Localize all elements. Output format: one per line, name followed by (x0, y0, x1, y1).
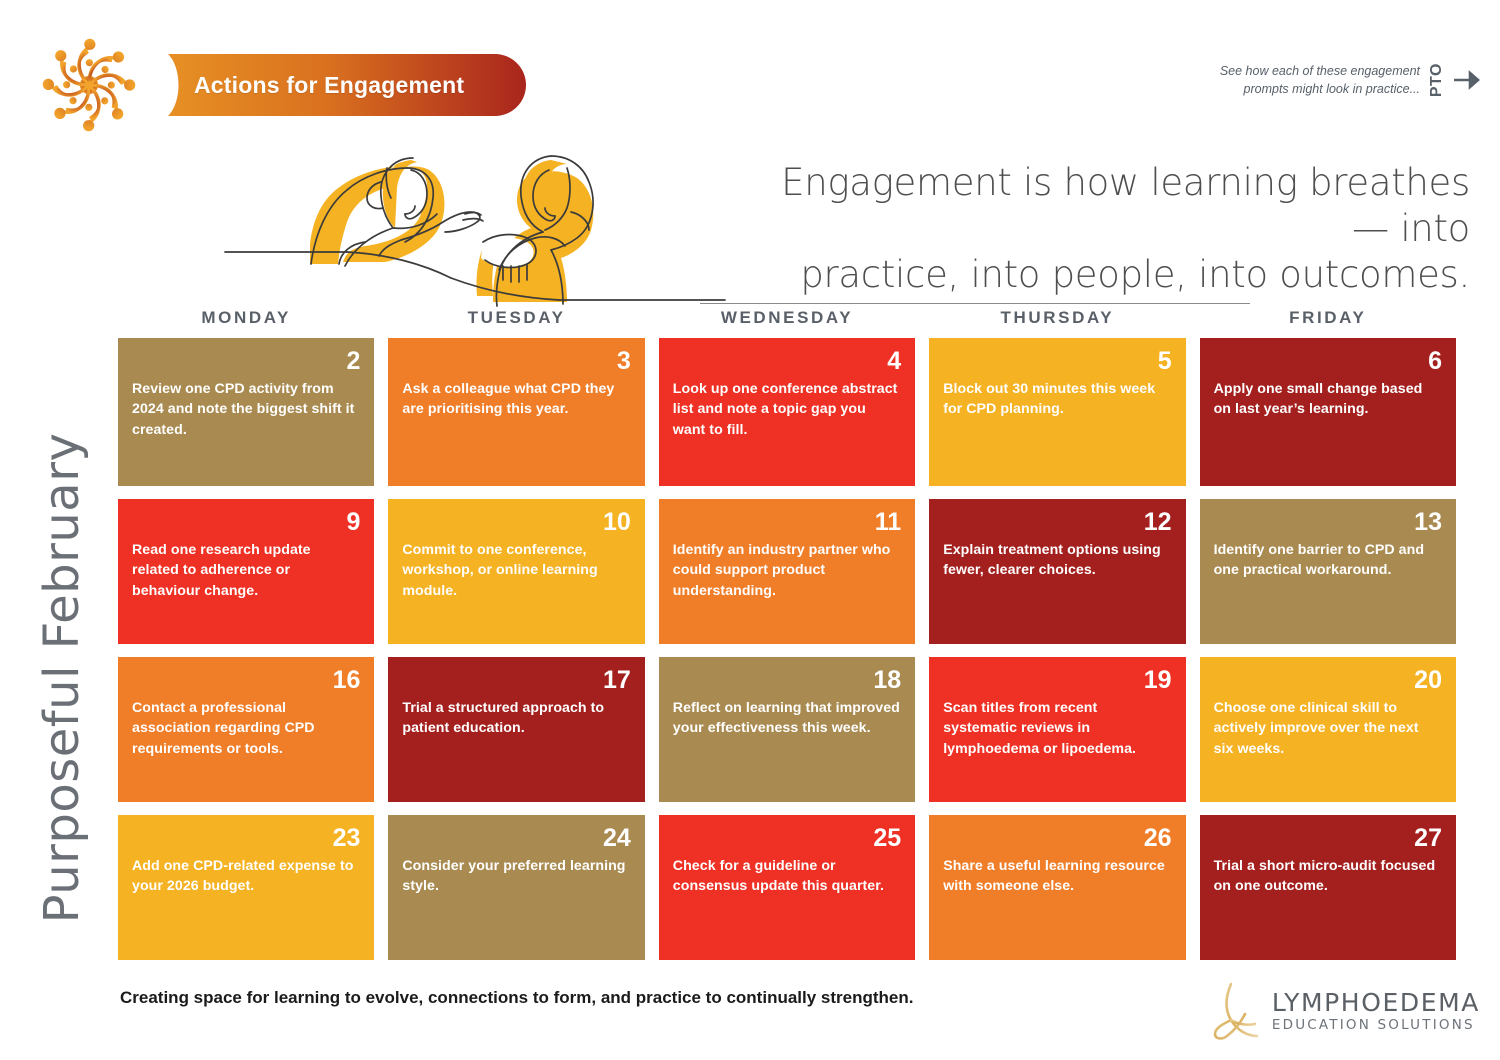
day-number: 19 (943, 667, 1171, 693)
day-header-tuesday: TUESDAY (388, 308, 644, 338)
hero-quote: Engagement is how learning breathes — in… (740, 160, 1470, 298)
calendar-week-row: 23 Add one CPD-related expense to your 2… (118, 815, 1456, 960)
day-header-wednesday: WEDNESDAY (659, 308, 915, 338)
day-number: 23 (132, 825, 360, 851)
pto-callout: See how each of these engagement prompts… (1190, 62, 1480, 98)
calendar-day-cell[interactable]: 27 Trial a short micro-audit focused on … (1200, 815, 1456, 960)
day-number: 6 (1214, 348, 1442, 374)
day-prompt: Commit to one conference, workshop, or o… (402, 540, 630, 600)
arrow-right-icon (1454, 69, 1480, 91)
pto-label: PTO (1428, 63, 1446, 97)
calendar-day-cell[interactable]: 4 Look up one conference abstract list a… (659, 338, 915, 486)
calendar-day-cell[interactable]: 20 Choose one clinical skill to actively… (1200, 657, 1456, 802)
calendar-day-cell[interactable]: 5 Block out 30 minutes this week for CPD… (929, 338, 1185, 486)
day-number: 10 (402, 509, 630, 535)
illustration-baseline (700, 303, 1250, 304)
calendar-day-cell[interactable]: 12 Explain treatment options using fewer… (929, 499, 1185, 644)
day-number: 20 (1214, 667, 1442, 693)
banner-title: Actions for Engagement (168, 54, 526, 116)
day-number: 18 (673, 667, 901, 693)
footer-brand-subtitle: EDUCATION SOLUTIONS (1272, 1018, 1480, 1032)
calendar-day-headers: MONDAY TUESDAY WEDNESDAY THURSDAY FRIDAY (118, 308, 1456, 338)
calendar-day-cell[interactable]: 23 Add one CPD-related expense to your 2… (118, 815, 374, 960)
day-prompt: Share a useful learning resource with so… (943, 856, 1171, 896)
calendar-day-cell[interactable]: 11 Identify an industry partner who coul… (659, 499, 915, 644)
calendar-week-row: 2 Review one CPD activity from 2024 and … (118, 338, 1456, 486)
day-number: 17 (402, 667, 630, 693)
day-prompt: Review one CPD activity from 2024 and no… (132, 379, 360, 439)
calendar-day-cell[interactable]: 2 Review one CPD activity from 2024 and … (118, 338, 374, 486)
lymphoedema-mandala-logo-icon (28, 24, 150, 146)
day-prompt: Ask a colleague what CPD they are priori… (402, 379, 630, 419)
calendar-week-row: 16 Contact a professional association re… (118, 657, 1456, 802)
logo-badge (16, 22, 161, 147)
day-number: 26 (943, 825, 1171, 851)
day-prompt: Contact a professional association regar… (132, 698, 360, 758)
day-prompt: Reflect on learning that improved your e… (673, 698, 901, 738)
calendar-day-cell[interactable]: 19 Scan titles from recent systematic re… (929, 657, 1185, 802)
calendar-day-cell[interactable]: 16 Contact a professional association re… (118, 657, 374, 802)
day-number: 16 (132, 667, 360, 693)
day-number: 3 (402, 348, 630, 374)
calendar-week-row: 9 Read one research update related to ad… (118, 499, 1456, 644)
day-prompt: Identify one barrier to CPD and one prac… (1214, 540, 1442, 580)
hero-quote-line-1: Engagement is how learning breathes — in… (740, 160, 1470, 252)
footer-tagline: Creating space for learning to evolve, c… (120, 988, 913, 1008)
day-prompt: Apply one small change based on last yea… (1214, 379, 1442, 419)
day-prompt: Choose one clinical skill to actively im… (1214, 698, 1442, 758)
day-prompt: Check for a guideline or consensus updat… (673, 856, 901, 896)
day-prompt: Block out 30 minutes this week for CPD p… (943, 379, 1171, 419)
pto-note-text: See how each of these engagement prompts… (1190, 62, 1420, 98)
day-number: 4 (673, 348, 901, 374)
day-number: 5 (943, 348, 1171, 374)
hero-quote-line-2: practice, into people, into outcomes. (740, 252, 1470, 298)
footer-brand-text: LYMPHOEDEMA EDUCATION SOLUTIONS (1272, 990, 1480, 1031)
calendar-day-cell[interactable]: 6 Apply one small change based on last y… (1200, 338, 1456, 486)
calendar-day-cell[interactable]: 24 Consider your preferred learning styl… (388, 815, 644, 960)
day-number: 24 (402, 825, 630, 851)
day-prompt: Read one research update related to adhe… (132, 540, 360, 600)
calendar-day-cell[interactable]: 9 Read one research update related to ad… (118, 499, 374, 644)
day-prompt: Look up one conference abstract list and… (673, 379, 901, 439)
day-prompt: Trial a structured approach to patient e… (402, 698, 630, 738)
day-prompt: Explain treatment options using fewer, c… (943, 540, 1171, 580)
day-number: 12 (943, 509, 1171, 535)
day-header-monday: MONDAY (118, 308, 374, 338)
day-number: 27 (1214, 825, 1442, 851)
day-prompt: Trial a short micro-audit focused on one… (1214, 856, 1442, 896)
calendar-day-cell[interactable]: 3 Ask a colleague what CPD they are prio… (388, 338, 644, 486)
day-prompt: Identify an industry partner who could s… (673, 540, 901, 600)
two-people-line-art-icon (215, 118, 735, 313)
day-prompt: Consider your preferred learning style. (402, 856, 630, 896)
calendar-day-cell[interactable]: 13 Identify one barrier to CPD and one p… (1200, 499, 1456, 644)
conversation-illustration (215, 118, 735, 313)
day-prompt: Add one CPD-related expense to your 2026… (132, 856, 360, 896)
calendar-day-cell[interactable]: 10 Commit to one conference, workshop, o… (388, 499, 644, 644)
actions-for-engagement-banner: Actions for Engagement (168, 54, 526, 116)
ribbon-mark-icon (1209, 980, 1263, 1042)
day-number: 25 (673, 825, 901, 851)
day-prompt: Scan titles from recent systematic revie… (943, 698, 1171, 758)
calendar-day-cell[interactable]: 25 Check for a guideline or consensus up… (659, 815, 915, 960)
day-number: 2 (132, 348, 360, 374)
footer-brand-name: LYMPHOEDEMA (1272, 990, 1480, 1016)
month-title: Purposeful February (34, 358, 90, 998)
footer-brand-logo: LYMPHOEDEMA EDUCATION SOLUTIONS (1209, 980, 1480, 1042)
calendar-day-cell[interactable]: 17 Trial a structured approach to patien… (388, 657, 644, 802)
day-header-thursday: THURSDAY (929, 308, 1185, 338)
day-header-friday: FRIDAY (1200, 308, 1456, 338)
day-number: 9 (132, 509, 360, 535)
calendar-grid: MONDAY TUESDAY WEDNESDAY THURSDAY FRIDAY… (118, 308, 1456, 973)
calendar-day-cell[interactable]: 18 Reflect on learning that improved you… (659, 657, 915, 802)
day-number: 13 (1214, 509, 1442, 535)
calendar-day-cell[interactable]: 26 Share a useful learning resource with… (929, 815, 1185, 960)
day-number: 11 (673, 509, 901, 535)
